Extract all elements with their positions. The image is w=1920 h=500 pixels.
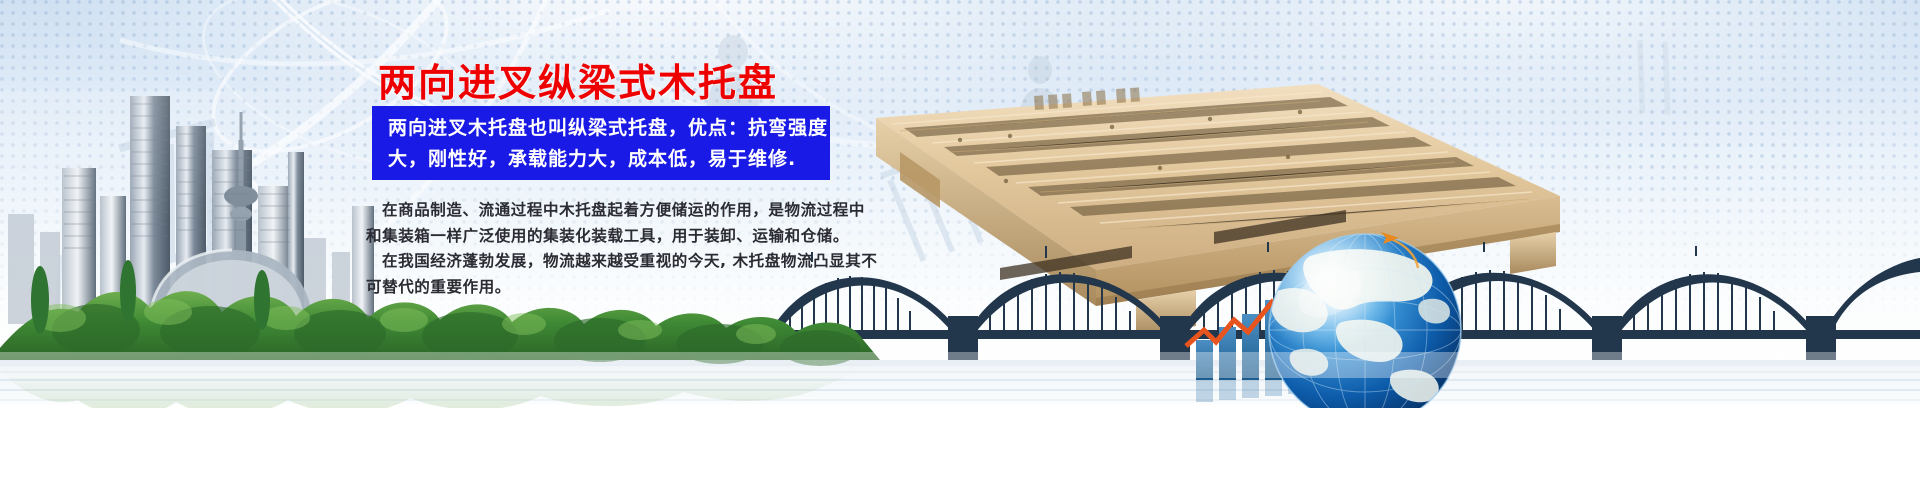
callout-line-2: 大，刚性好，承载能力大，成本低，易于维修. [388,144,816,175]
paragraph-line-3: 在我国经济蓬勃发展，物流越来越受重视的今天, 木托盘物流凸显其不 [366,249,866,275]
description-paragraph: 在商品制造、流通过程中木托盘起着方便储运的作用，是物流过程中 和集装箱一样广泛使… [366,198,866,300]
product-banner: 两向进叉纵梁式木托盘 两向进叉木托盘也叫纵梁式托盘，优点：抗弯强度 大，刚性好，… [0,0,1920,500]
highlight-callout-box: 两向进叉木托盘也叫纵梁式托盘，优点：抗弯强度 大，刚性好，承载能力大，成本低，易… [372,106,830,180]
banner-artwork [0,0,1920,500]
callout-line-1: 两向进叉木托盘也叫纵梁式托盘，优点：抗弯强度 [388,113,816,144]
paragraph-line-4: 可替代的重要作用。 [366,275,866,301]
paragraph-line-1: 在商品制造、流通过程中木托盘起着方便储运的作用，是物流过程中 [366,198,866,224]
paragraph-line-2: 和集装箱一样广泛使用的集装化装载工具，用于装卸、运输和仓储。 [366,224,866,250]
page-title: 两向进叉纵梁式木托盘 [378,52,778,107]
